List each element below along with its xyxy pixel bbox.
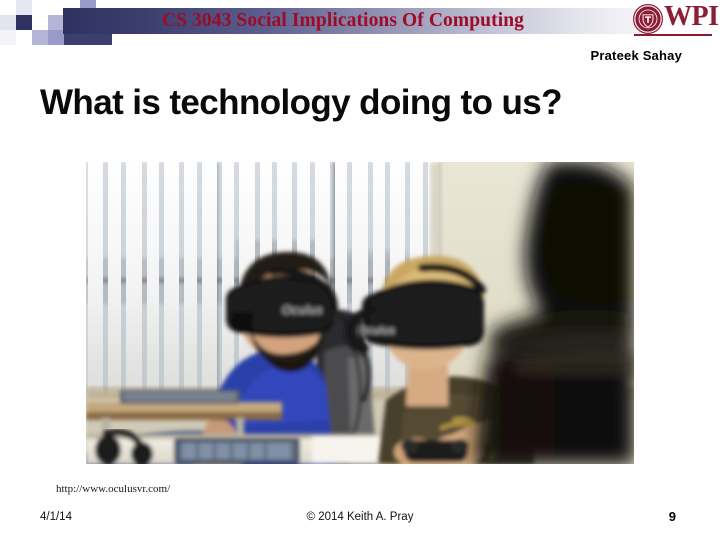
deco-square bbox=[16, 30, 32, 45]
wpi-underline bbox=[634, 34, 712, 36]
footer-copyright: © 2014 Keith A. Pray bbox=[0, 511, 720, 523]
svg-text:Oculus: Oculus bbox=[282, 303, 323, 317]
svg-text:Oculus: Oculus bbox=[358, 325, 395, 337]
slide-header: CS 3043 Social Implications Of Computing… bbox=[0, 0, 720, 45]
footer-page-number: 9 bbox=[669, 509, 676, 524]
deco-square bbox=[48, 0, 64, 15]
photo-source-caption: http://www.oculusvr.com/ bbox=[56, 483, 170, 495]
deco-square bbox=[16, 0, 32, 15]
presenter-name: Prateek Sahay bbox=[591, 48, 683, 63]
deco-square bbox=[32, 0, 48, 15]
course-title: CS 3043 Social Implications Of Computing bbox=[63, 6, 623, 36]
deco-square bbox=[16, 15, 32, 30]
deco-square bbox=[0, 0, 16, 15]
deco-square bbox=[0, 15, 16, 30]
deco-square bbox=[32, 30, 48, 45]
deco-square bbox=[32, 15, 48, 30]
wpi-wordmark: WPI bbox=[664, 1, 719, 33]
wpi-logo: WPI bbox=[632, 2, 714, 38]
slide-title: What is technology doing to us? bbox=[40, 83, 690, 123]
slide-canvas: CS 3043 Social Implications Of Computing… bbox=[0, 0, 720, 540]
deco-square bbox=[0, 30, 16, 45]
deco-square bbox=[48, 30, 64, 45]
deco-square bbox=[48, 15, 64, 30]
slide-photo: Oculus bbox=[86, 162, 634, 464]
vr-headset-photo: Oculus bbox=[86, 162, 634, 464]
